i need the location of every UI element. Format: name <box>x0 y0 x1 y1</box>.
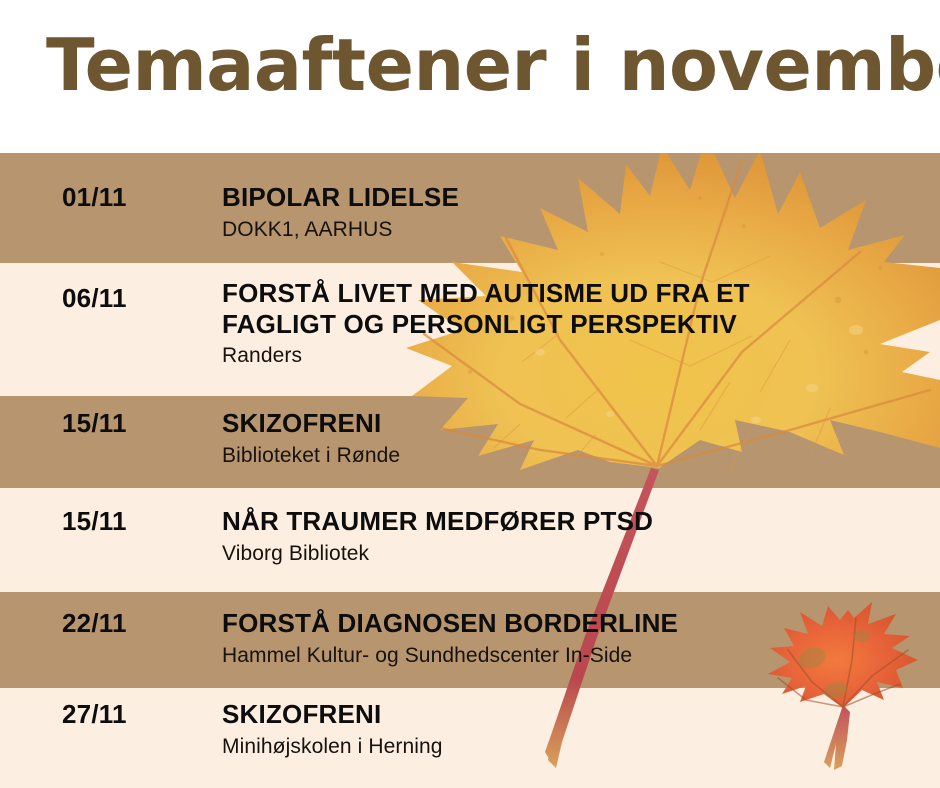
event-location: Viborg Bibliotek <box>222 541 932 566</box>
event-info: BIPOLAR LIDELSE DOKK1, AARHUS <box>222 182 932 242</box>
event-title: FORSTÅ DIAGNOSEN BORDERLINE <box>222 608 932 639</box>
event-date: 27/11 <box>62 699 127 730</box>
event-location: Biblioteket i Rønde <box>222 443 932 468</box>
event-location: Randers <box>222 343 932 368</box>
event-info: SKIZOFRENI Minihøjskolen i Herning <box>222 699 932 759</box>
event-date: 15/11 <box>62 506 127 537</box>
event-location: DOKK1, AARHUS <box>222 217 932 242</box>
event-location: Hammel Kultur- og Sundhedscenter In-Side <box>222 643 932 668</box>
title-bar: Temaaftener i november <box>0 0 940 153</box>
event-info: SKIZOFRENI Biblioteket i Rønde <box>222 408 932 468</box>
event-date: 06/11 <box>62 283 127 314</box>
event-location: Minihøjskolen i Herning <box>222 734 932 759</box>
event-info: NÅR TRAUMER MEDFØRER PTSD Viborg Bibliot… <box>222 506 932 566</box>
event-date: 01/11 <box>62 182 127 213</box>
event-title: FORSTÅ LIVET MED AUTISME UD FRA ET FAGLI… <box>222 278 932 339</box>
event-date: 15/11 <box>62 408 127 439</box>
event-info: FORSTÅ DIAGNOSEN BORDERLINE Hammel Kultu… <box>222 608 932 668</box>
poster: Temaaftener i november 01/11 BIPOLAR LID… <box>0 0 940 788</box>
event-info: FORSTÅ LIVET MED AUTISME UD FRA ET FAGLI… <box>222 278 932 369</box>
event-title: BIPOLAR LIDELSE <box>222 182 932 213</box>
page-title: Temaaftener i november <box>46 24 897 107</box>
event-date: 22/11 <box>62 608 127 639</box>
event-title: NÅR TRAUMER MEDFØRER PTSD <box>222 506 932 537</box>
event-title: SKIZOFRENI <box>222 408 932 439</box>
event-title: SKIZOFRENI <box>222 699 932 730</box>
